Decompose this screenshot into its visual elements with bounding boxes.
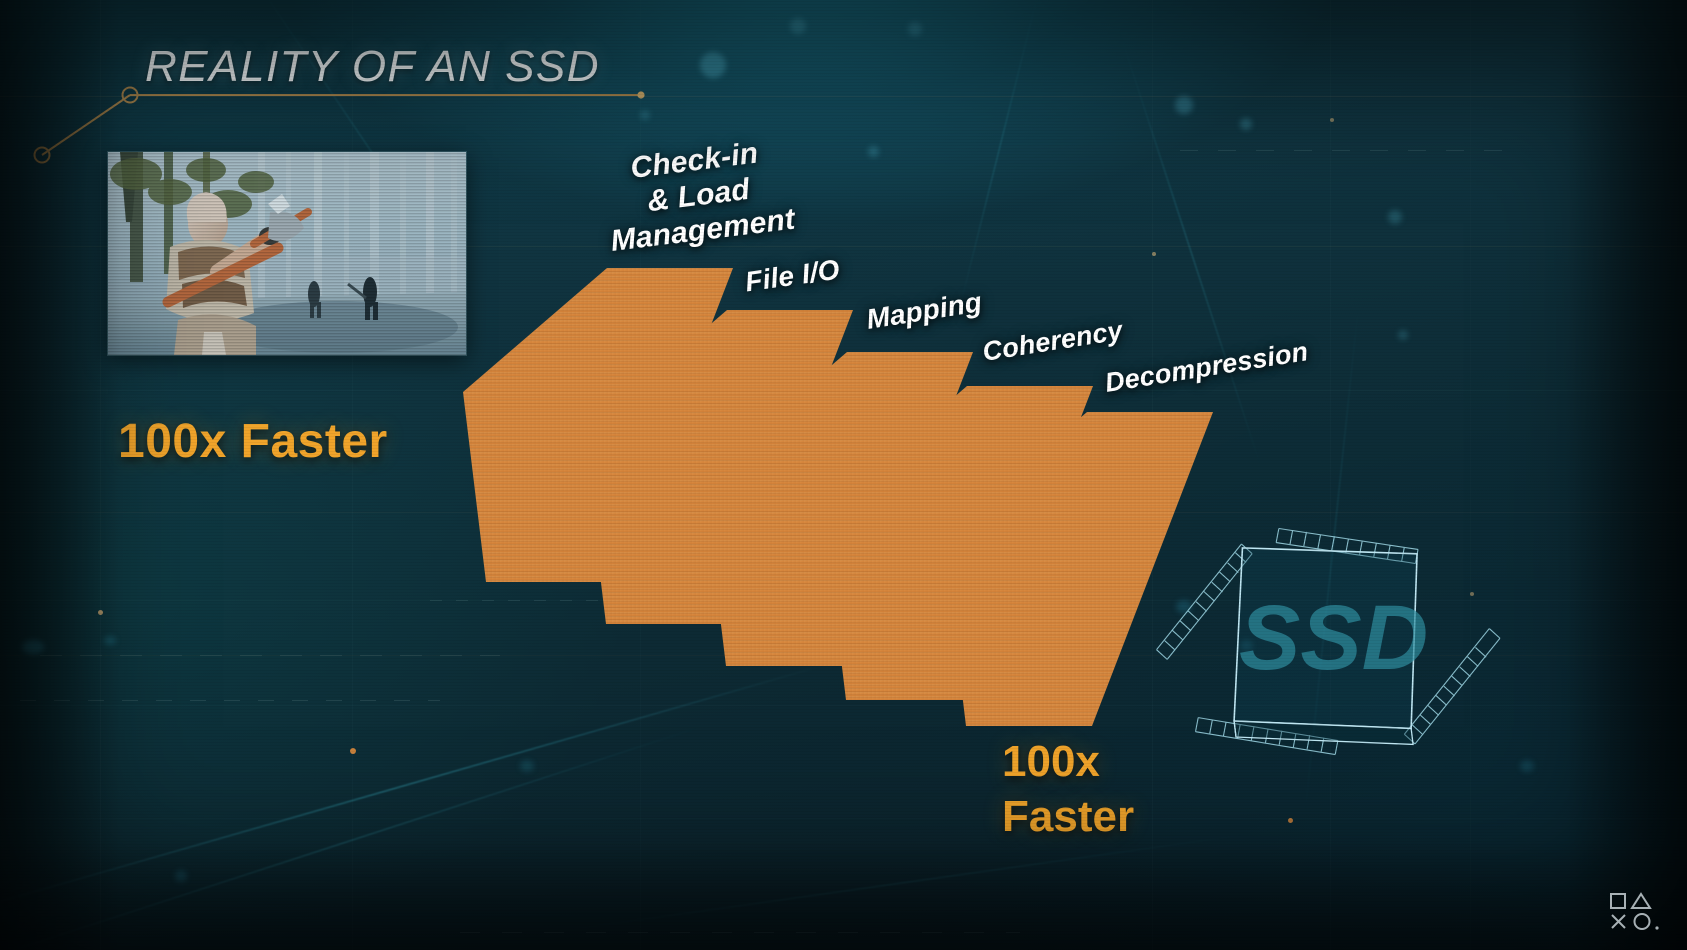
playstation-shapes-logo (1607, 890, 1665, 932)
presentation-slide: REALITY OF AN SSD (0, 0, 1687, 950)
vignette-overlay (0, 0, 1687, 950)
